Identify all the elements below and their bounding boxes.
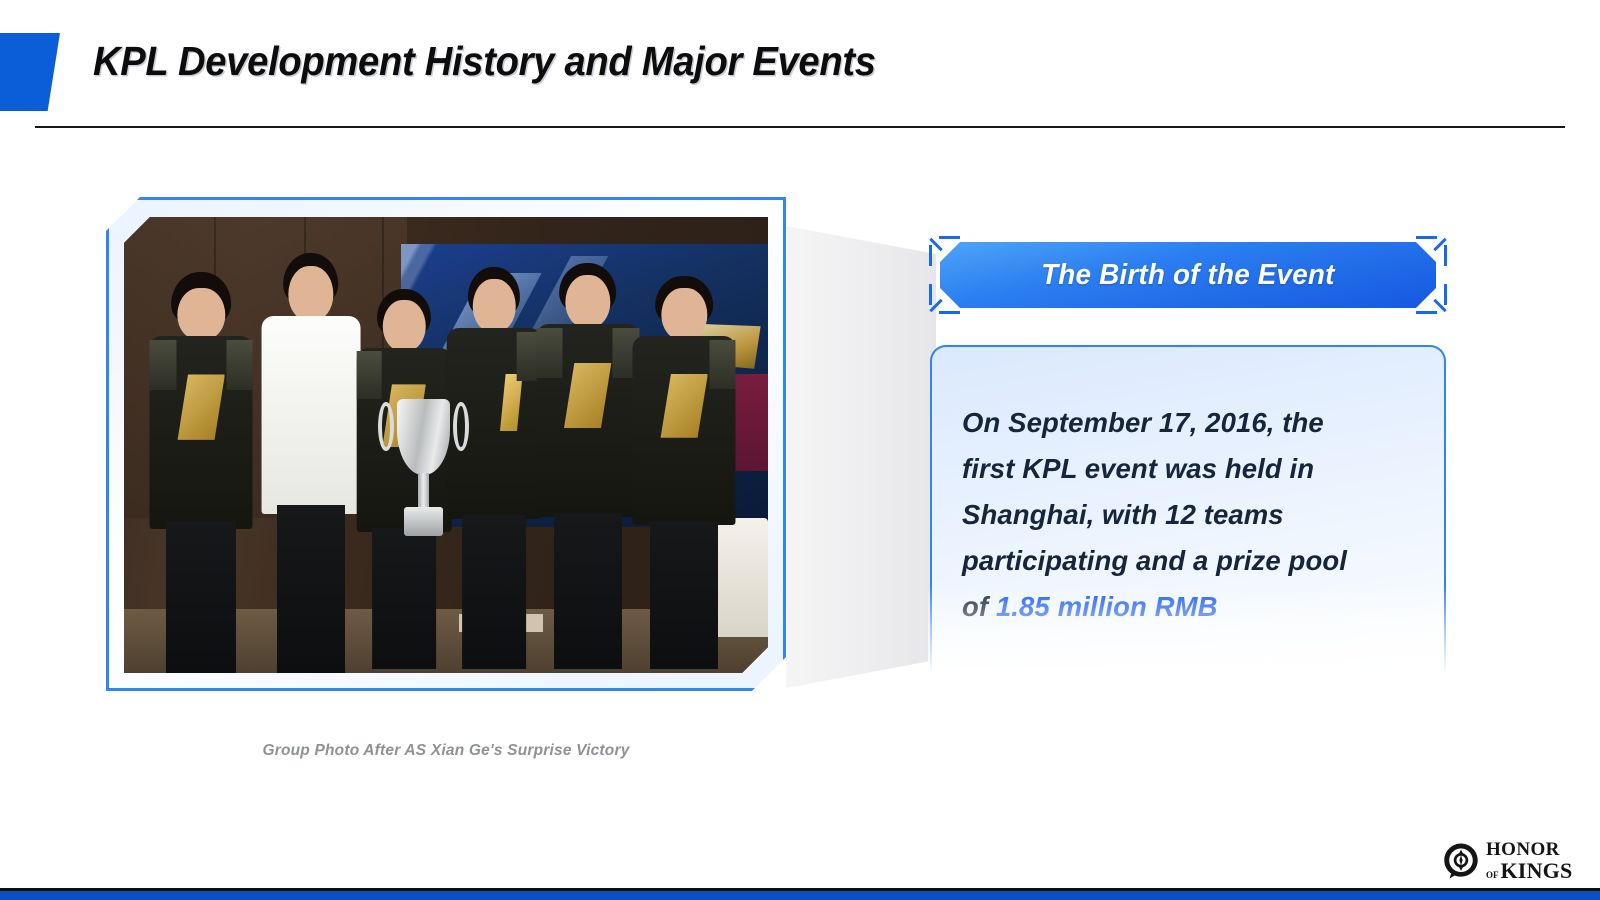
photo-trophy — [388, 399, 459, 536]
logo-kings-text: KINGS — [1501, 860, 1573, 882]
title-accent-bar — [0, 33, 60, 111]
panel-body-line: participating and a prize pool — [962, 538, 1414, 584]
panel-body-line: On September 17, 2016, the — [962, 400, 1414, 446]
logo-wordmark: HONOR OF KINGS — [1486, 840, 1572, 882]
corner-bracket-bottom-left-icon — [930, 284, 960, 314]
corner-bracket-top-left-icon — [930, 236, 960, 266]
panel-body-line-highlight: of 1.85 million RMB — [962, 584, 1414, 630]
badge-body: The Birth of the Event — [940, 242, 1436, 308]
footer-blue-bar — [0, 891, 1600, 900]
panel-body-prefix: of — [962, 591, 996, 622]
photo-to-panel-connector — [786, 226, 936, 688]
team-photo — [124, 217, 768, 673]
panel-body-text: On September 17, 2016, the first KPL eve… — [962, 400, 1414, 630]
panel-body-line: first KPL event was held in — [962, 446, 1414, 492]
corner-bracket-top-right-icon — [1416, 236, 1446, 266]
photo-caption: Group Photo After AS Xian Ge's Surprise … — [106, 742, 786, 760]
badge-label: The Birth of the Event — [1041, 259, 1334, 292]
panel-header-badge: The Birth of the Event — [930, 236, 1446, 314]
logo-of-text: OF — [1486, 871, 1499, 880]
photo-person — [446, 267, 543, 673]
prize-pool-highlight: 1.85 million RMB — [996, 591, 1218, 622]
corner-bracket-bottom-right-icon — [1416, 284, 1446, 314]
honor-of-kings-emblem-icon — [1442, 842, 1480, 880]
slide-root: KPL Development History and Major Events — [0, 0, 1600, 900]
photo-person — [633, 272, 736, 673]
photo-person — [536, 263, 639, 673]
photo-person — [150, 272, 253, 673]
panel-body-line: Shanghai, with 12 teams — [962, 492, 1414, 538]
honor-of-kings-logo: HONOR OF KINGS — [1442, 836, 1590, 886]
page-title: KPL Development History and Major Events — [93, 38, 876, 85]
header-divider — [35, 126, 1565, 128]
photo-person — [259, 253, 362, 673]
logo-honor-text: HONOR — [1486, 840, 1572, 859]
